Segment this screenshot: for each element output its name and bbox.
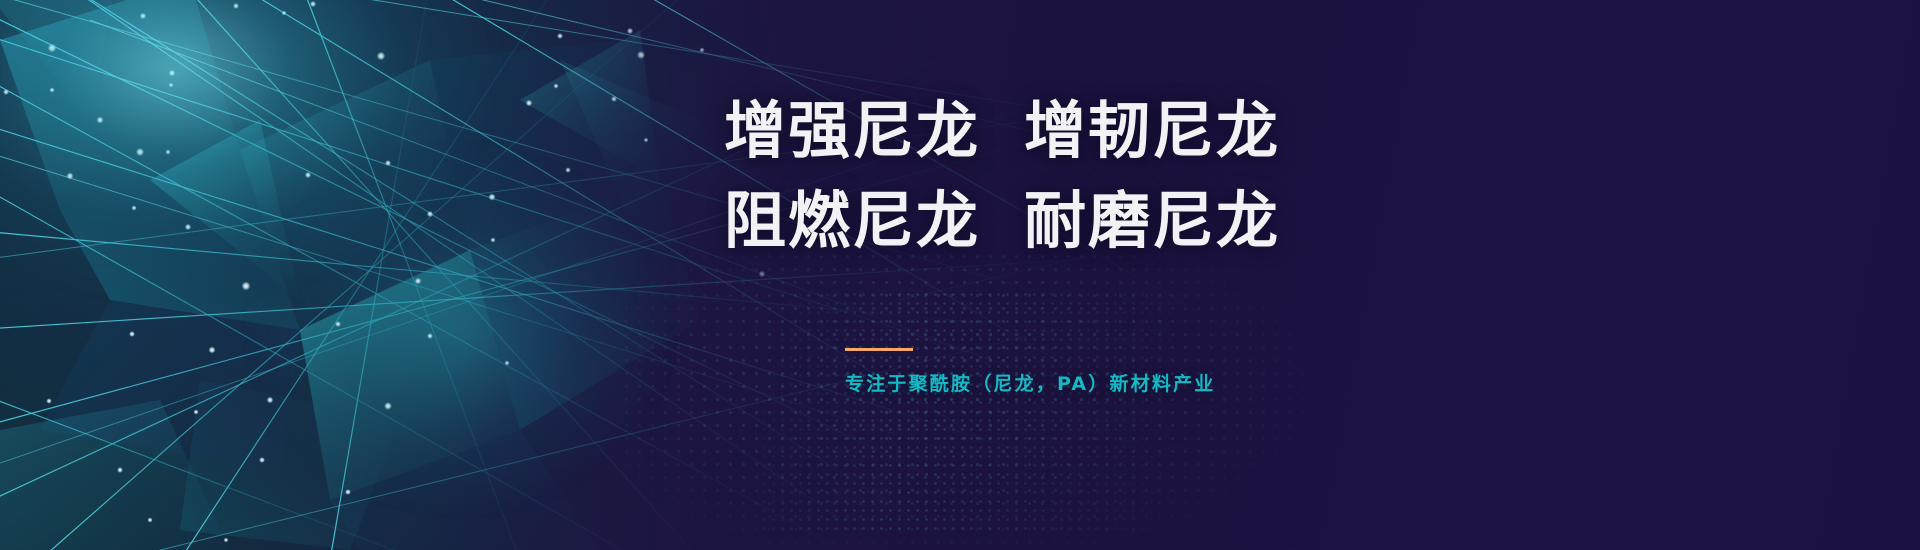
headline-line2-part2: 耐磨尼龙 [1024, 184, 1280, 257]
tagline-text: 专注于聚酰胺（尼龙，PA）新材料产业 [845, 369, 1265, 396]
halftone-dot-pattern-secondary [760, 290, 1180, 530]
tagline-block: 专注于聚酰胺（尼龙，PA）新材料产业 [845, 348, 1265, 396]
orange-divider-rule [845, 348, 913, 351]
headline-text: 增强尼龙增韧尼龙 阻燃尼龙耐磨尼龙 [724, 86, 1424, 266]
headline-line1-part2: 增韧尼龙 [1024, 94, 1280, 167]
headline-line-1: 增强尼龙增韧尼龙 [724, 86, 1424, 176]
headline-line1-part1: 增强尼龙 [724, 94, 980, 167]
headline-line2-part1: 阻燃尼龙 [724, 184, 980, 257]
hero-banner: 增强尼龙增韧尼龙 阻燃尼龙耐磨尼龙 专注于聚酰胺（尼龙，PA）新材料产业 [0, 0, 1920, 550]
headline-line-2: 阻燃尼龙耐磨尼龙 [724, 176, 1424, 266]
